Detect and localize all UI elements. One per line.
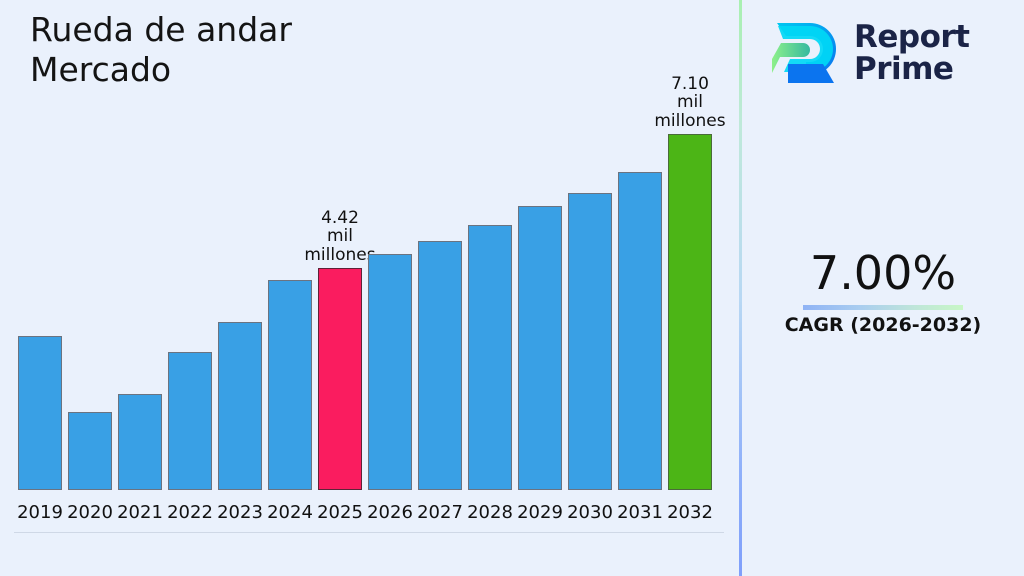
- bar-rect-2027[interactable]: [418, 241, 462, 490]
- report-prime-r-logo-icon: [766, 17, 842, 91]
- bar-2031[interactable]: [618, 172, 662, 490]
- bar-2021[interactable]: [118, 394, 162, 490]
- bar-2025[interactable]: 4.42 mil millones: [318, 268, 362, 490]
- bar-rect-2021[interactable]: [118, 394, 162, 490]
- cagr-value: 7.00%: [742, 248, 1024, 299]
- bar-2032[interactable]: 7.10 mil millones: [668, 134, 712, 490]
- x-tick-2021: 2021: [114, 502, 166, 523]
- x-tick-2023: 2023: [214, 502, 266, 523]
- cagr-caption: CAGR (2026-2032): [742, 314, 1024, 336]
- chart-panel: Rueda de andar Mercado 4.42 mil millones…: [0, 0, 739, 576]
- brand-logo: Report Prime: [766, 12, 1012, 96]
- bar-value-label-2032: 7.10 mil millones: [645, 75, 735, 130]
- bar-2024[interactable]: [268, 280, 312, 490]
- bar-2027[interactable]: [418, 241, 462, 490]
- x-tick-2020: 2020: [64, 502, 116, 523]
- info-panel: Report Prime 7.00% CAGR (2026-2032): [742, 0, 1024, 576]
- bar-2028[interactable]: [468, 225, 512, 490]
- x-tick-2022: 2022: [164, 502, 216, 523]
- cagr-divider-rule: [803, 305, 963, 310]
- bar-rect-2023[interactable]: [218, 322, 262, 490]
- bar-2019[interactable]: [18, 336, 62, 490]
- bar-2030[interactable]: [568, 193, 612, 490]
- x-tick-2025: 2025: [314, 502, 366, 523]
- x-tick-2028: 2028: [464, 502, 516, 523]
- bar-rect-2020[interactable]: [68, 412, 112, 490]
- x-tick-2032: 2032: [664, 502, 716, 523]
- x-tick-2019: 2019: [14, 502, 66, 523]
- bar-2026[interactable]: [368, 254, 412, 490]
- x-tick-2027: 2027: [414, 502, 466, 523]
- bar-rect-2032[interactable]: [668, 134, 712, 490]
- x-tick-2026: 2026: [364, 502, 416, 523]
- x-tick-2031: 2031: [614, 502, 666, 523]
- x-axis-line: [14, 532, 724, 533]
- brand-name: Report Prime: [854, 22, 970, 85]
- bar-rect-2029[interactable]: [518, 206, 562, 490]
- bar-chart-plot-area: 4.42 mil millones7.10 mil millones 20192…: [0, 0, 739, 533]
- bar-2022[interactable]: [168, 352, 212, 490]
- bar-rect-2031[interactable]: [618, 172, 662, 490]
- bar-rect-2022[interactable]: [168, 352, 212, 490]
- bar-rect-2030[interactable]: [568, 193, 612, 490]
- bar-rect-2024[interactable]: [268, 280, 312, 490]
- bar-2020[interactable]: [68, 412, 112, 490]
- bar-rect-2028[interactable]: [468, 225, 512, 490]
- cagr-block: 7.00% CAGR (2026-2032): [742, 248, 1024, 336]
- x-tick-2024: 2024: [264, 502, 316, 523]
- x-tick-2029: 2029: [514, 502, 566, 523]
- bar-2029[interactable]: [518, 206, 562, 490]
- infographic-root: Rueda de andar Mercado 4.42 mil millones…: [0, 0, 1024, 576]
- x-tick-2030: 2030: [564, 502, 616, 523]
- bar-rect-2019[interactable]: [18, 336, 62, 490]
- bar-2023[interactable]: [218, 322, 262, 490]
- bar-rect-2026[interactable]: [368, 254, 412, 490]
- bar-rect-2025[interactable]: [318, 268, 362, 490]
